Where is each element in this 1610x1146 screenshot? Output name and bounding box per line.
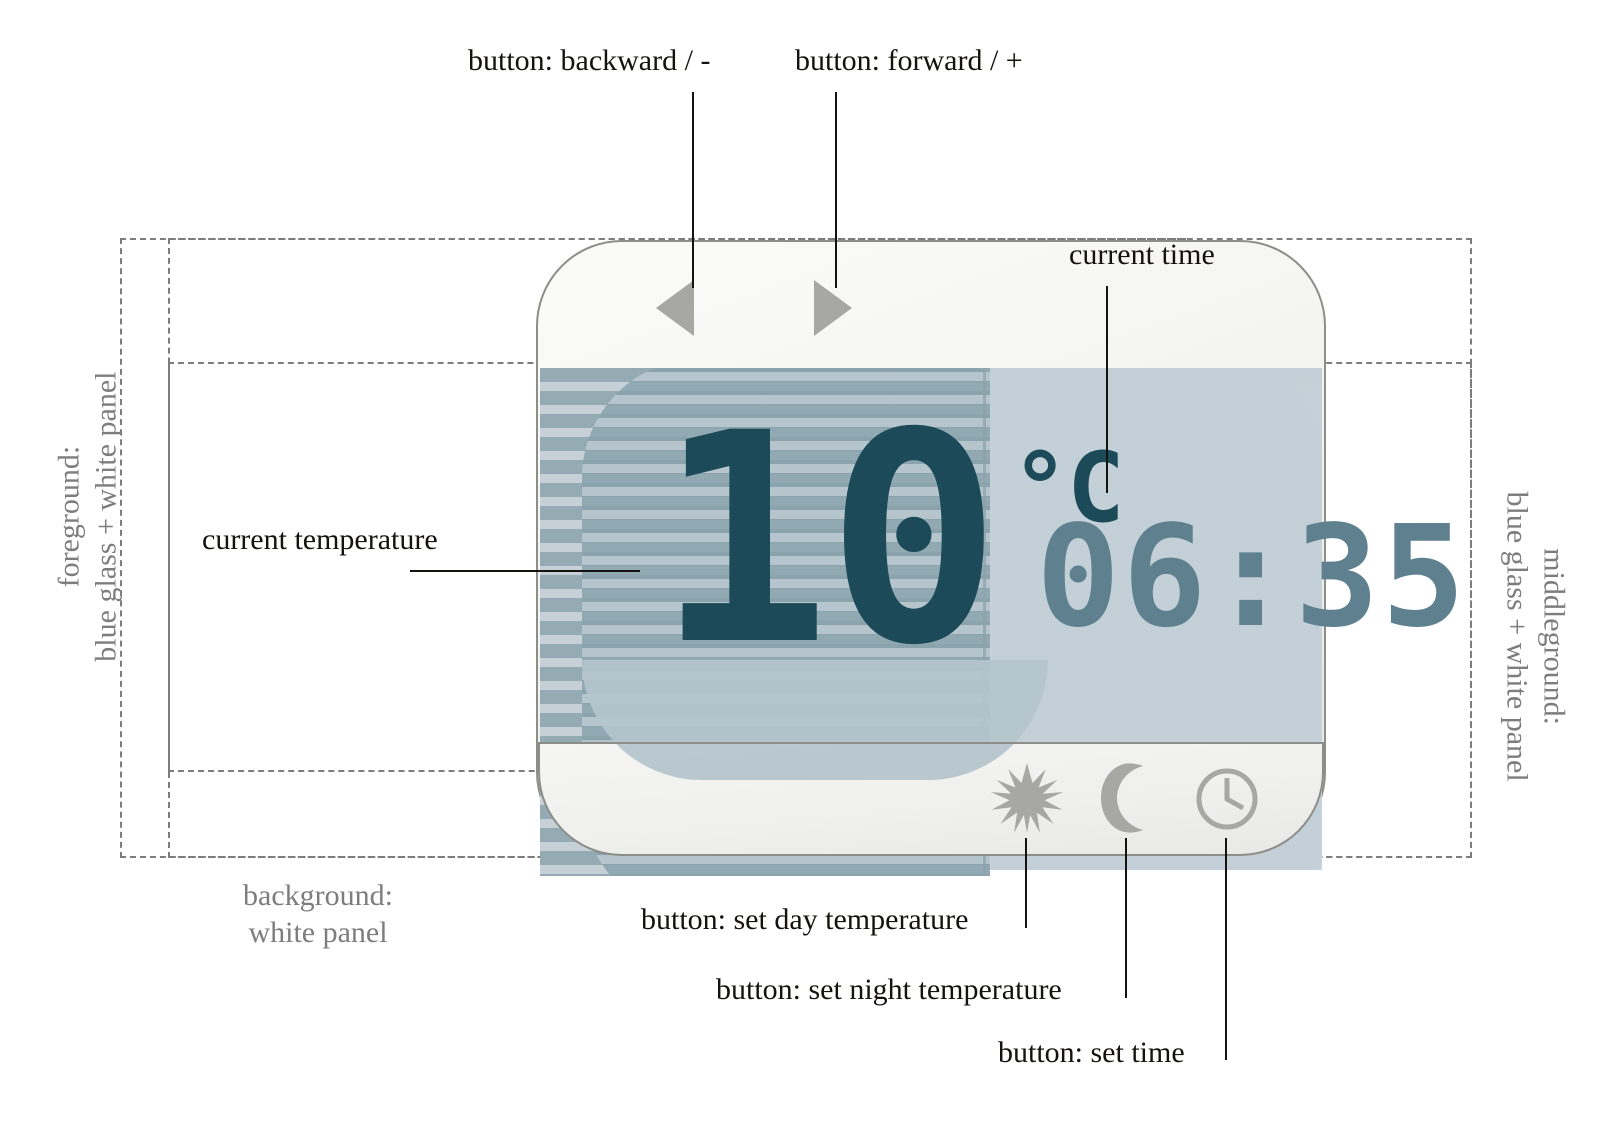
set-time-button[interactable] [1190,760,1264,834]
callout-backward: button: backward / - [468,44,710,78]
callout-set-time: button: set time [998,1036,1185,1070]
layer-label-middleground-line1: middleground: [1535,427,1572,847]
clock-icon [1190,760,1264,834]
current-time-readout: 06:35 [1036,508,1467,648]
leader-backward [692,92,694,288]
forward-arrow-icon[interactable] [814,280,852,336]
layer-label-middleground-line2: blue glass + white panel [1498,427,1535,847]
leader-current-time [1106,286,1108,493]
leader-current-temperature [410,570,640,572]
layer-label-background-line2: white panel [178,915,458,952]
layer-label-middleground: middleground: blue glass + white panel [1498,427,1571,847]
thermostat-device: 10 °C 06:35 [536,240,1326,858]
set-day-temperature-button[interactable] [990,760,1064,834]
callout-set-night-temperature: button: set night temperature [716,973,1062,1007]
temperature-value: 10 [656,428,997,654]
layer-label-foreground-line2: blue glass + white panel [88,307,125,727]
backward-arrow-icon[interactable] [656,280,694,336]
layer-label-foreground: foreground: blue glass + white panel [51,307,124,727]
callout-current-temperature: current temperature [202,523,438,557]
moon-icon [1090,760,1164,834]
leader-set-day-temperature [1025,838,1027,928]
callout-current-time: current time [1069,238,1215,272]
set-night-temperature-button[interactable] [1090,760,1164,834]
callout-set-day-temperature: button: set day temperature [641,903,968,937]
sun-icon [990,760,1064,834]
callout-forward: button: forward / + [795,44,1023,78]
layer-label-background: background: white panel [178,878,458,951]
leader-set-night-temperature [1125,838,1127,998]
diagram-canvas: foreground: blue glass + white panel mid… [0,0,1610,1146]
layer-label-background-line1: background: [178,878,458,915]
bottom-bar-divider [538,742,1324,744]
leader-forward [835,92,837,288]
layer-label-foreground-line1: foreground: [51,307,88,727]
leader-set-time [1225,838,1227,1060]
